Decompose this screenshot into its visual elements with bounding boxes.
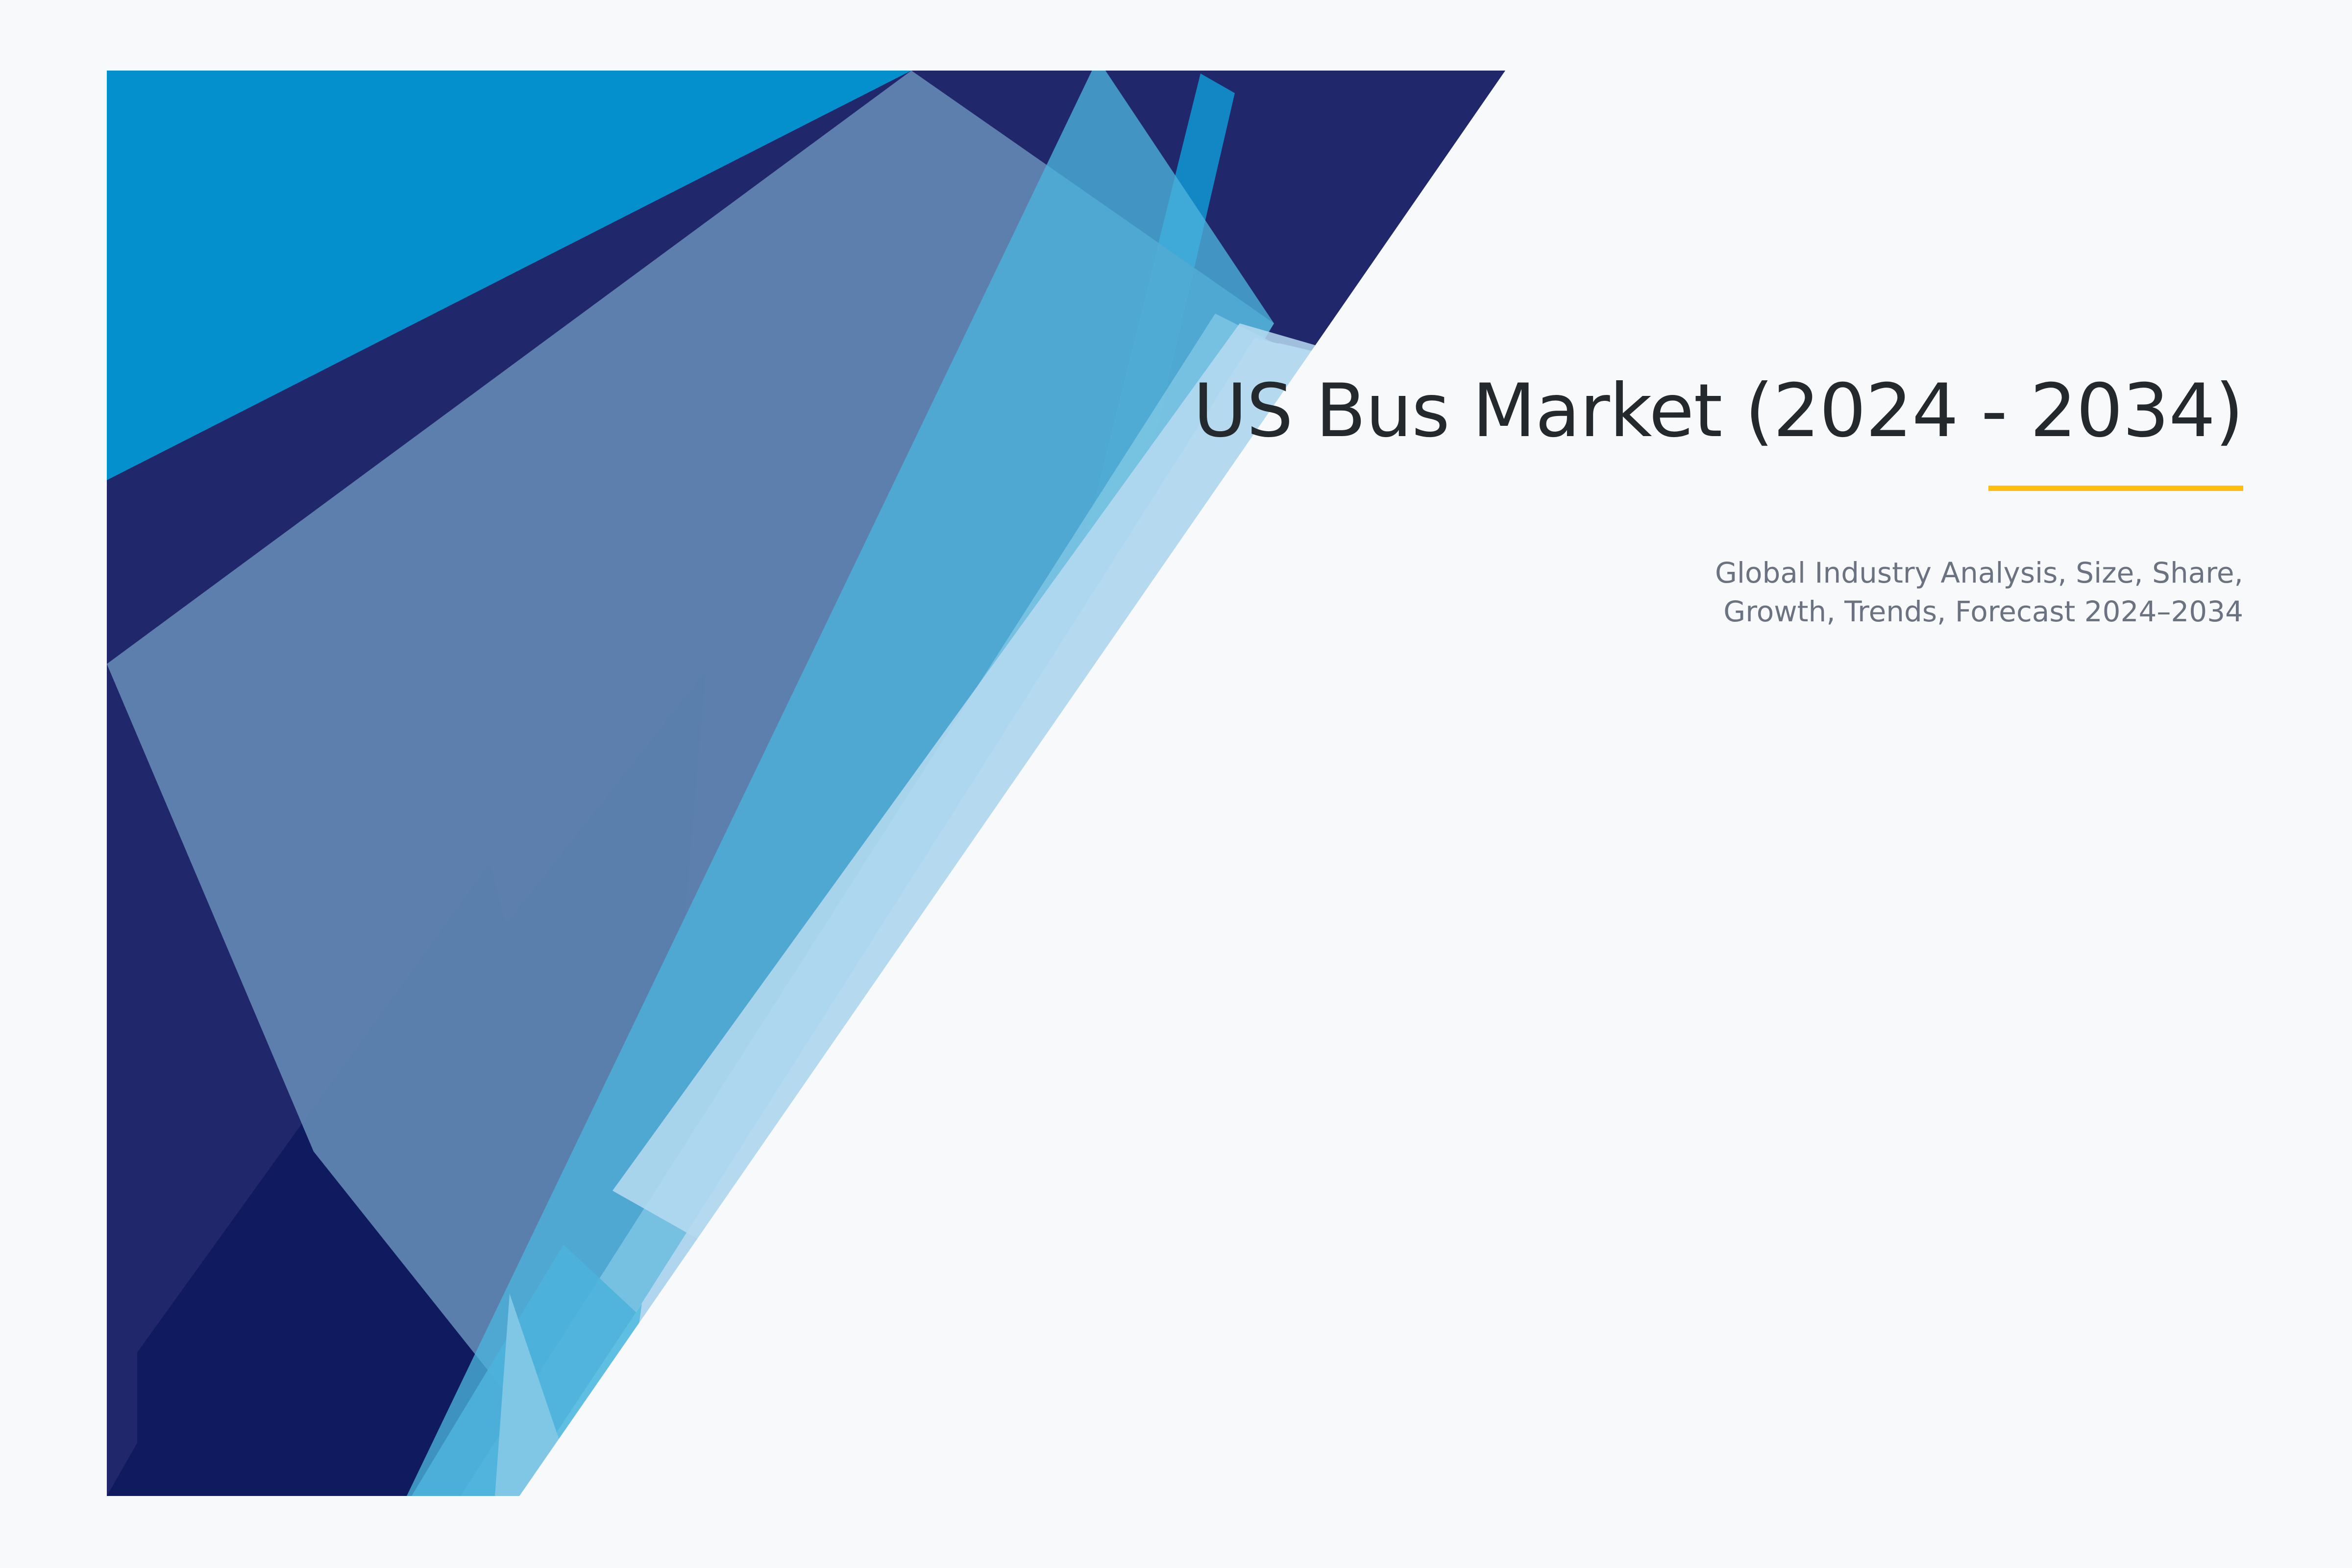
mask-left xyxy=(0,0,107,1568)
page-subtitle: Global Industry Analysis, Size, Share, G… xyxy=(1616,554,2243,631)
report-cover-slide: US Bus Market (2024 - 2034) Global Indus… xyxy=(0,0,2352,1568)
mask-top xyxy=(0,0,2352,71)
mask-bottom xyxy=(0,1496,2352,1568)
abstract-geometric-artwork xyxy=(0,0,2352,1568)
page-title: US Bus Market (2024 - 2034) xyxy=(969,372,2243,450)
cover-text-block: US Bus Market (2024 - 2034) Global Indus… xyxy=(969,372,2243,631)
accent-rule-wrap xyxy=(969,486,2243,491)
accent-rule xyxy=(1988,486,2243,491)
